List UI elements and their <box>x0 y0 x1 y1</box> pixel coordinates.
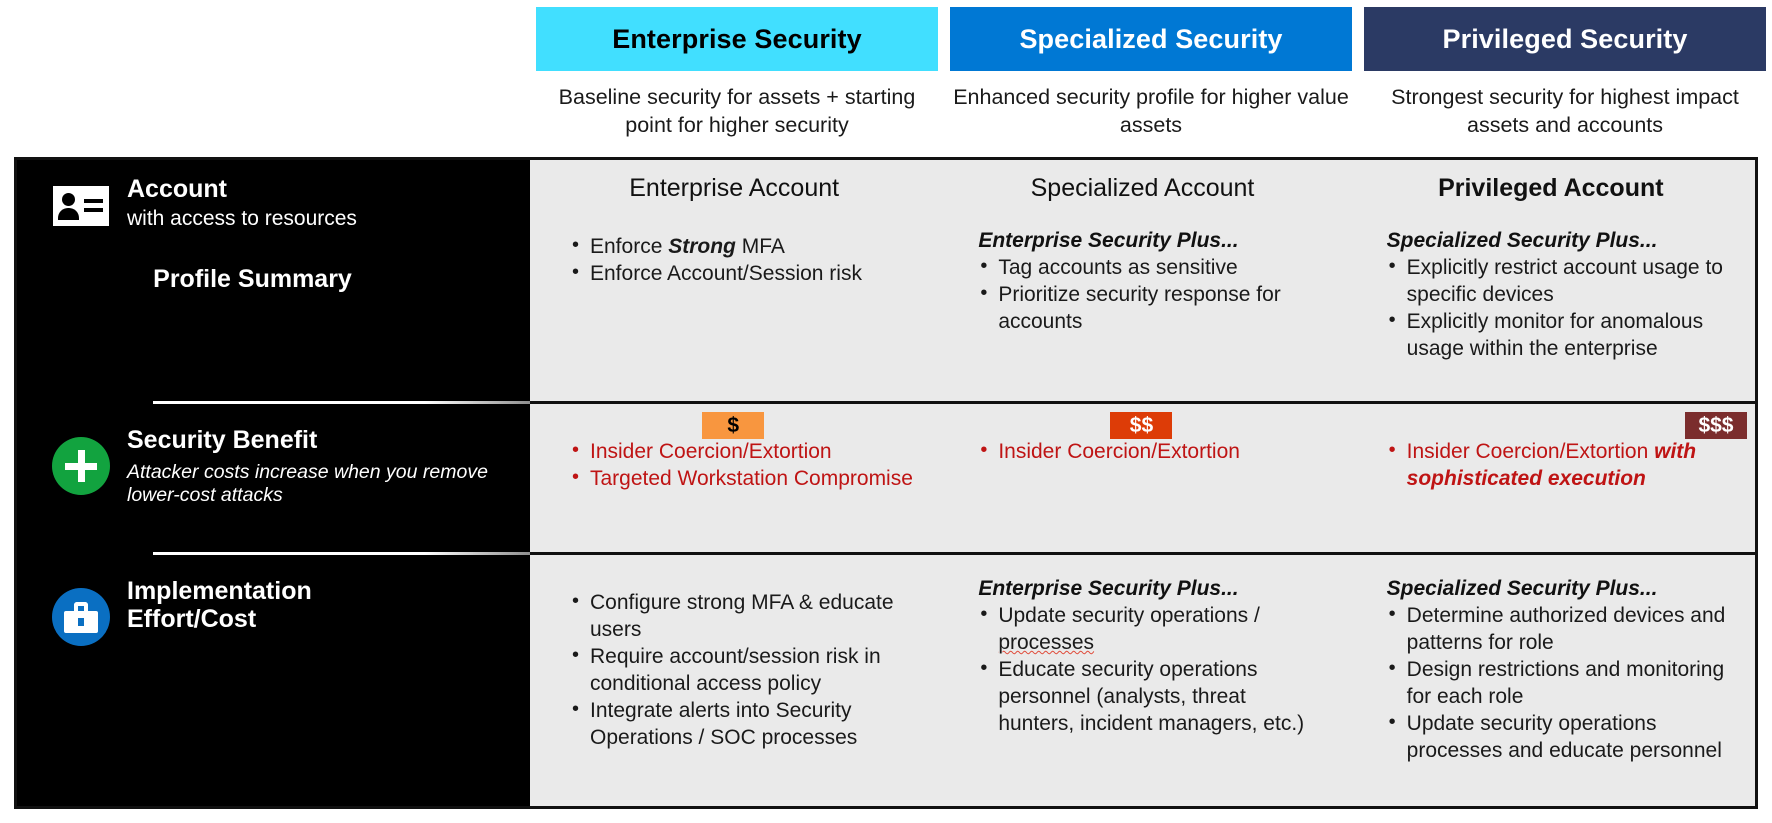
cost-badge-privileged: $$$ <box>1685 412 1747 439</box>
bullet-list: Insider Coercion/Extortion with sophisti… <box>1387 438 1735 492</box>
cell-implementation-specialized: Enterprise Security Plus... Update secur… <box>938 555 1346 806</box>
cell-body-specialized-account: Enterprise Security Plus... Tag accounts… <box>952 229 1332 335</box>
cell-title-privileged-account: Privileged Account <box>1361 160 1741 203</box>
cell-body-privileged-account: Specialized Security Plus... Explicitly … <box>1361 229 1741 362</box>
plus-heading-implementation-specialized: Enterprise Security Plus... <box>978 577 1326 601</box>
matrix-row-implementation: Configure strong MFA & educate usersRequ… <box>530 552 1755 806</box>
list-item: Targeted Workstation Compromise <box>570 465 918 492</box>
matrix-row-account: Enterprise Account Enforce Strong MFAEnf… <box>530 160 1755 401</box>
cost-badge-enterprise: $ <box>702 412 764 439</box>
cell-benefit-specialized: $$ Insider Coercion/Extortion <box>938 404 1346 552</box>
list-item: Update security operations processes and… <box>1387 710 1735 764</box>
header-column-privileged: Privileged Security Strongest security f… <box>1358 0 1772 155</box>
bullet-list: Determine authorized devices and pattern… <box>1387 602 1735 764</box>
list-item: Insider Coercion/Extortion <box>978 438 1326 465</box>
list-item: Explicitly monitor for anomalous usage w… <box>1387 308 1735 362</box>
list-item: Prioritize security response for account… <box>978 281 1326 335</box>
bullet-list: Insider Coercion/Extortion <box>978 438 1326 465</box>
header-chip-specialized-security[interactable]: Specialized Security <box>950 7 1352 71</box>
cell-title-enterprise-account: Enterprise Account <box>544 160 924 203</box>
header-chip-enterprise-security[interactable]: Enterprise Security <box>536 7 938 71</box>
bullet-list: Enforce Strong MFAEnforce Account/Sessio… <box>570 233 918 287</box>
list-item: Update security operations / processes <box>978 602 1326 656</box>
row-title-security-benefit: Security Benefit <box>127 427 516 455</box>
row-subtitle-account: with access to resources <box>127 206 516 231</box>
header-column-enterprise: Enterprise Security Baseline security fo… <box>530 0 944 155</box>
header-spacer <box>0 0 530 155</box>
cell-body-benefit-privileged: Insider Coercion/Extortion with sophisti… <box>1361 438 1741 492</box>
benefit-icon-wrap <box>35 427 127 495</box>
cell-body-benefit-enterprise: Insider Coercion/ExtortionTargeted Works… <box>544 438 924 492</box>
matrix-row-security-benefit: $ Insider Coercion/ExtortionTargeted Wor… <box>530 401 1755 552</box>
cell-body-implementation-specialized: Enterprise Security Plus... Update secur… <box>952 577 1332 737</box>
list-item: Integrate alerts into Security Operation… <box>570 697 918 751</box>
cell-account-privileged: Privileged Account Specialized Security … <box>1347 160 1755 401</box>
blue-briefcase-icon <box>52 588 110 646</box>
emphasis-text: with sophisticated execution <box>1407 440 1696 490</box>
header-subtitle-enterprise-security: Baseline security for assets + starting … <box>536 83 938 139</box>
list-item: Insider Coercion/Extortion <box>570 438 918 465</box>
implementation-icon-wrap <box>35 578 127 646</box>
header-column-specialized: Specialized Security Enhanced security p… <box>944 0 1358 155</box>
cell-implementation-privileged: Specialized Security Plus... Determine a… <box>1347 555 1755 806</box>
security-levels-comparison-slide: Enterprise Security Baseline security fo… <box>0 0 1772 823</box>
header-band: Enterprise Security Baseline security fo… <box>0 0 1772 155</box>
plus-heading-privileged-account: Specialized Security Plus... <box>1387 229 1735 253</box>
account-card-icon <box>53 186 109 226</box>
cell-implementation-enterprise: Configure strong MFA & educate usersRequ… <box>530 555 938 806</box>
row-title-implementation-line1: Implementation <box>127 578 516 606</box>
list-item: Explicitly restrict account usage to spe… <box>1387 254 1735 308</box>
cell-benefit-enterprise: $ Insider Coercion/ExtortionTargeted Wor… <box>530 404 938 552</box>
row-label-account: Account with access to resources Profile… <box>17 160 530 401</box>
list-item: Enforce Account/Session risk <box>570 260 918 287</box>
list-item: Enforce Strong MFA <box>570 233 918 260</box>
row-title-account: Account <box>127 176 516 204</box>
row-label-panel: Account with access to resources Profile… <box>17 160 530 806</box>
list-item: Insider Coercion/Extortion with sophisti… <box>1387 438 1735 492</box>
bullet-list: Update security operations / processesEd… <box>978 602 1326 737</box>
emphasis-text: Strong <box>668 235 736 258</box>
profile-summary-label: Profile Summary <box>35 265 530 294</box>
cell-title-specialized-account: Specialized Account <box>952 160 1332 203</box>
header-subtitle-privileged-security: Strongest security for highest impact as… <box>1364 83 1766 139</box>
row-title-implementation-line2: Effort/Cost <box>127 606 516 634</box>
cell-benefit-privileged: $$$ Insider Coercion/Extortion with soph… <box>1347 404 1755 552</box>
cost-badge-specialized: $$ <box>1110 412 1172 439</box>
row-label-implementation: Implementation Effort/Cost <box>17 552 530 806</box>
row-label-security-benefit: Security Benefit Attacker costs increase… <box>17 401 530 552</box>
list-item: Configure strong MFA & educate users <box>570 589 918 643</box>
account-icon-wrap <box>35 176 127 226</box>
cell-body-benefit-specialized: Insider Coercion/Extortion <box>952 438 1332 465</box>
bullet-list: Tag accounts as sensitivePrioritize secu… <box>978 254 1326 335</box>
cell-body-implementation-enterprise: Configure strong MFA & educate usersRequ… <box>544 589 924 751</box>
cell-body-implementation-privileged: Specialized Security Plus... Determine a… <box>1361 577 1741 764</box>
spellcheck-underlined-word: processes <box>998 631 1094 654</box>
comparison-matrix: Account with access to resources Profile… <box>14 157 1758 809</box>
bullet-list: Insider Coercion/ExtortionTargeted Works… <box>570 438 918 492</box>
list-item: Determine authorized devices and pattern… <box>1387 602 1735 656</box>
plus-heading-implementation-privileged: Specialized Security Plus... <box>1387 577 1735 601</box>
plus-heading-specialized-account: Enterprise Security Plus... <box>978 229 1326 253</box>
list-item: Design restrictions and monitoring for e… <box>1387 656 1735 710</box>
list-item: Require account/session risk in conditio… <box>570 643 918 697</box>
cell-body-enterprise-account: Enforce Strong MFAEnforce Account/Sessio… <box>544 233 924 287</box>
green-plus-icon <box>52 437 110 495</box>
list-item: Educate security operations personnel (a… <box>978 656 1326 737</box>
row-subtitle-security-benefit: Attacker costs increase when you remove … <box>127 461 516 509</box>
header-chip-privileged-security[interactable]: Privileged Security <box>1364 7 1766 71</box>
cell-account-enterprise: Enterprise Account Enforce Strong MFAEnf… <box>530 160 938 401</box>
bullet-list: Explicitly restrict account usage to spe… <box>1387 254 1735 362</box>
header-subtitle-specialized-security: Enhanced security profile for higher val… <box>950 83 1352 139</box>
bullet-list: Configure strong MFA & educate usersRequ… <box>570 589 918 751</box>
list-item: Tag accounts as sensitive <box>978 254 1326 281</box>
matrix-content-panel: Enterprise Account Enforce Strong MFAEnf… <box>530 160 1755 806</box>
cell-account-specialized: Specialized Account Enterprise Security … <box>938 160 1346 401</box>
